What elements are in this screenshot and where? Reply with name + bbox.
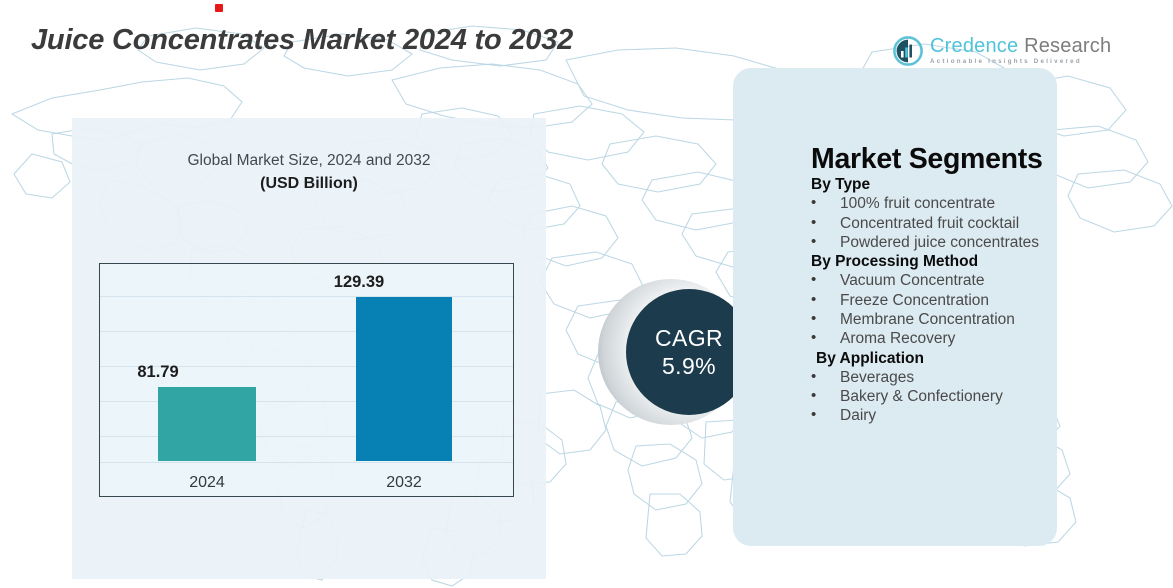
chart-title: Global Market Size, 2024 and 2032: [72, 152, 546, 170]
segment-item-label: Aroma Recovery: [840, 329, 1055, 348]
segment-group-heading-processing-method: By Processing Method: [811, 252, 1055, 271]
list-item: • Aroma Recovery: [811, 329, 1055, 348]
market-segments-heading: Market Segments: [811, 143, 1043, 176]
bullet-icon: •: [811, 368, 840, 387]
bullet-icon: •: [811, 233, 840, 252]
list-item: • Vacuum Concentrate: [811, 271, 1055, 290]
page-title: Juice Concentrates Market 2024 to 2032: [31, 24, 573, 57]
brand-name-secondary: Research: [1018, 35, 1111, 57]
bullet-icon: •: [811, 291, 840, 310]
bar-chart-circle-icon: [893, 36, 923, 66]
list-item: • 100% fruit concentrate: [811, 194, 1055, 213]
bullet-icon: •: [811, 329, 840, 348]
segment-item-label: Freeze Concentration: [840, 291, 1055, 310]
list-item: • Freeze Concentration: [811, 291, 1055, 310]
bar-category-label: 2024: [137, 474, 277, 492]
cagr-label: CAGR: [655, 324, 723, 352]
list-item: • Beverages: [811, 368, 1055, 387]
brand-logo[interactable]: Credence Research Actionable Insights De…: [893, 36, 1111, 66]
infographic-canvas: Juice Concentrates Market 2024 to 2032 C…: [0, 0, 1173, 588]
market-segments-list: By Type • 100% fruit concentrate • Conce…: [811, 175, 1055, 426]
cagr-value: 5.9%: [662, 352, 716, 380]
brand-name: Credence Research: [930, 36, 1111, 56]
bar-value-label: 81.79: [88, 363, 228, 382]
bar-category-label: 2032: [334, 474, 474, 492]
segment-item-label: Dairy: [840, 406, 1055, 425]
segment-group-heading-type: By Type: [811, 175, 1055, 194]
bar-value-label: 129.39: [289, 273, 429, 292]
bar-chart: 81.79 2024 129.39 2032: [99, 263, 514, 497]
segment-item-label: Powdered juice concentrates: [840, 233, 1055, 252]
bullet-icon: •: [811, 387, 840, 406]
bullet-icon: •: [811, 271, 840, 290]
segment-item-label: 100% fruit concentrate: [840, 194, 1055, 213]
brand-name-primary: Credence: [930, 35, 1018, 57]
list-item: • Membrane Concentration: [811, 310, 1055, 329]
chart-subtitle: (USD Billion): [72, 175, 546, 193]
bar-2024: [158, 387, 256, 461]
bullet-icon: •: [811, 194, 840, 213]
bullet-icon: •: [811, 214, 840, 233]
list-item: • Concentrated fruit cocktail: [811, 214, 1055, 233]
brand-tagline: Actionable Insights Delivered: [930, 59, 1111, 65]
chart-plot-area: 81.79 2024 129.39 2032: [100, 264, 513, 496]
red-dot-accent: [215, 4, 223, 12]
segment-group-heading-application: By Application: [811, 349, 1055, 368]
segment-item-label: Vacuum Concentrate: [840, 271, 1055, 290]
list-item: • Dairy: [811, 406, 1055, 425]
list-item: • Powdered juice concentrates: [811, 233, 1055, 252]
segment-item-label: Bakery & Confectionery: [840, 387, 1055, 406]
list-item: • Bakery & Confectionery: [811, 387, 1055, 406]
segment-item-label: Beverages: [840, 368, 1055, 387]
segment-item-label: Concentrated fruit cocktail: [840, 214, 1055, 233]
bar-2032: [356, 297, 452, 461]
gridline: [100, 462, 513, 463]
bullet-icon: •: [811, 406, 840, 425]
bullet-icon: •: [811, 310, 840, 329]
segment-item-label: Membrane Concentration: [840, 310, 1055, 329]
